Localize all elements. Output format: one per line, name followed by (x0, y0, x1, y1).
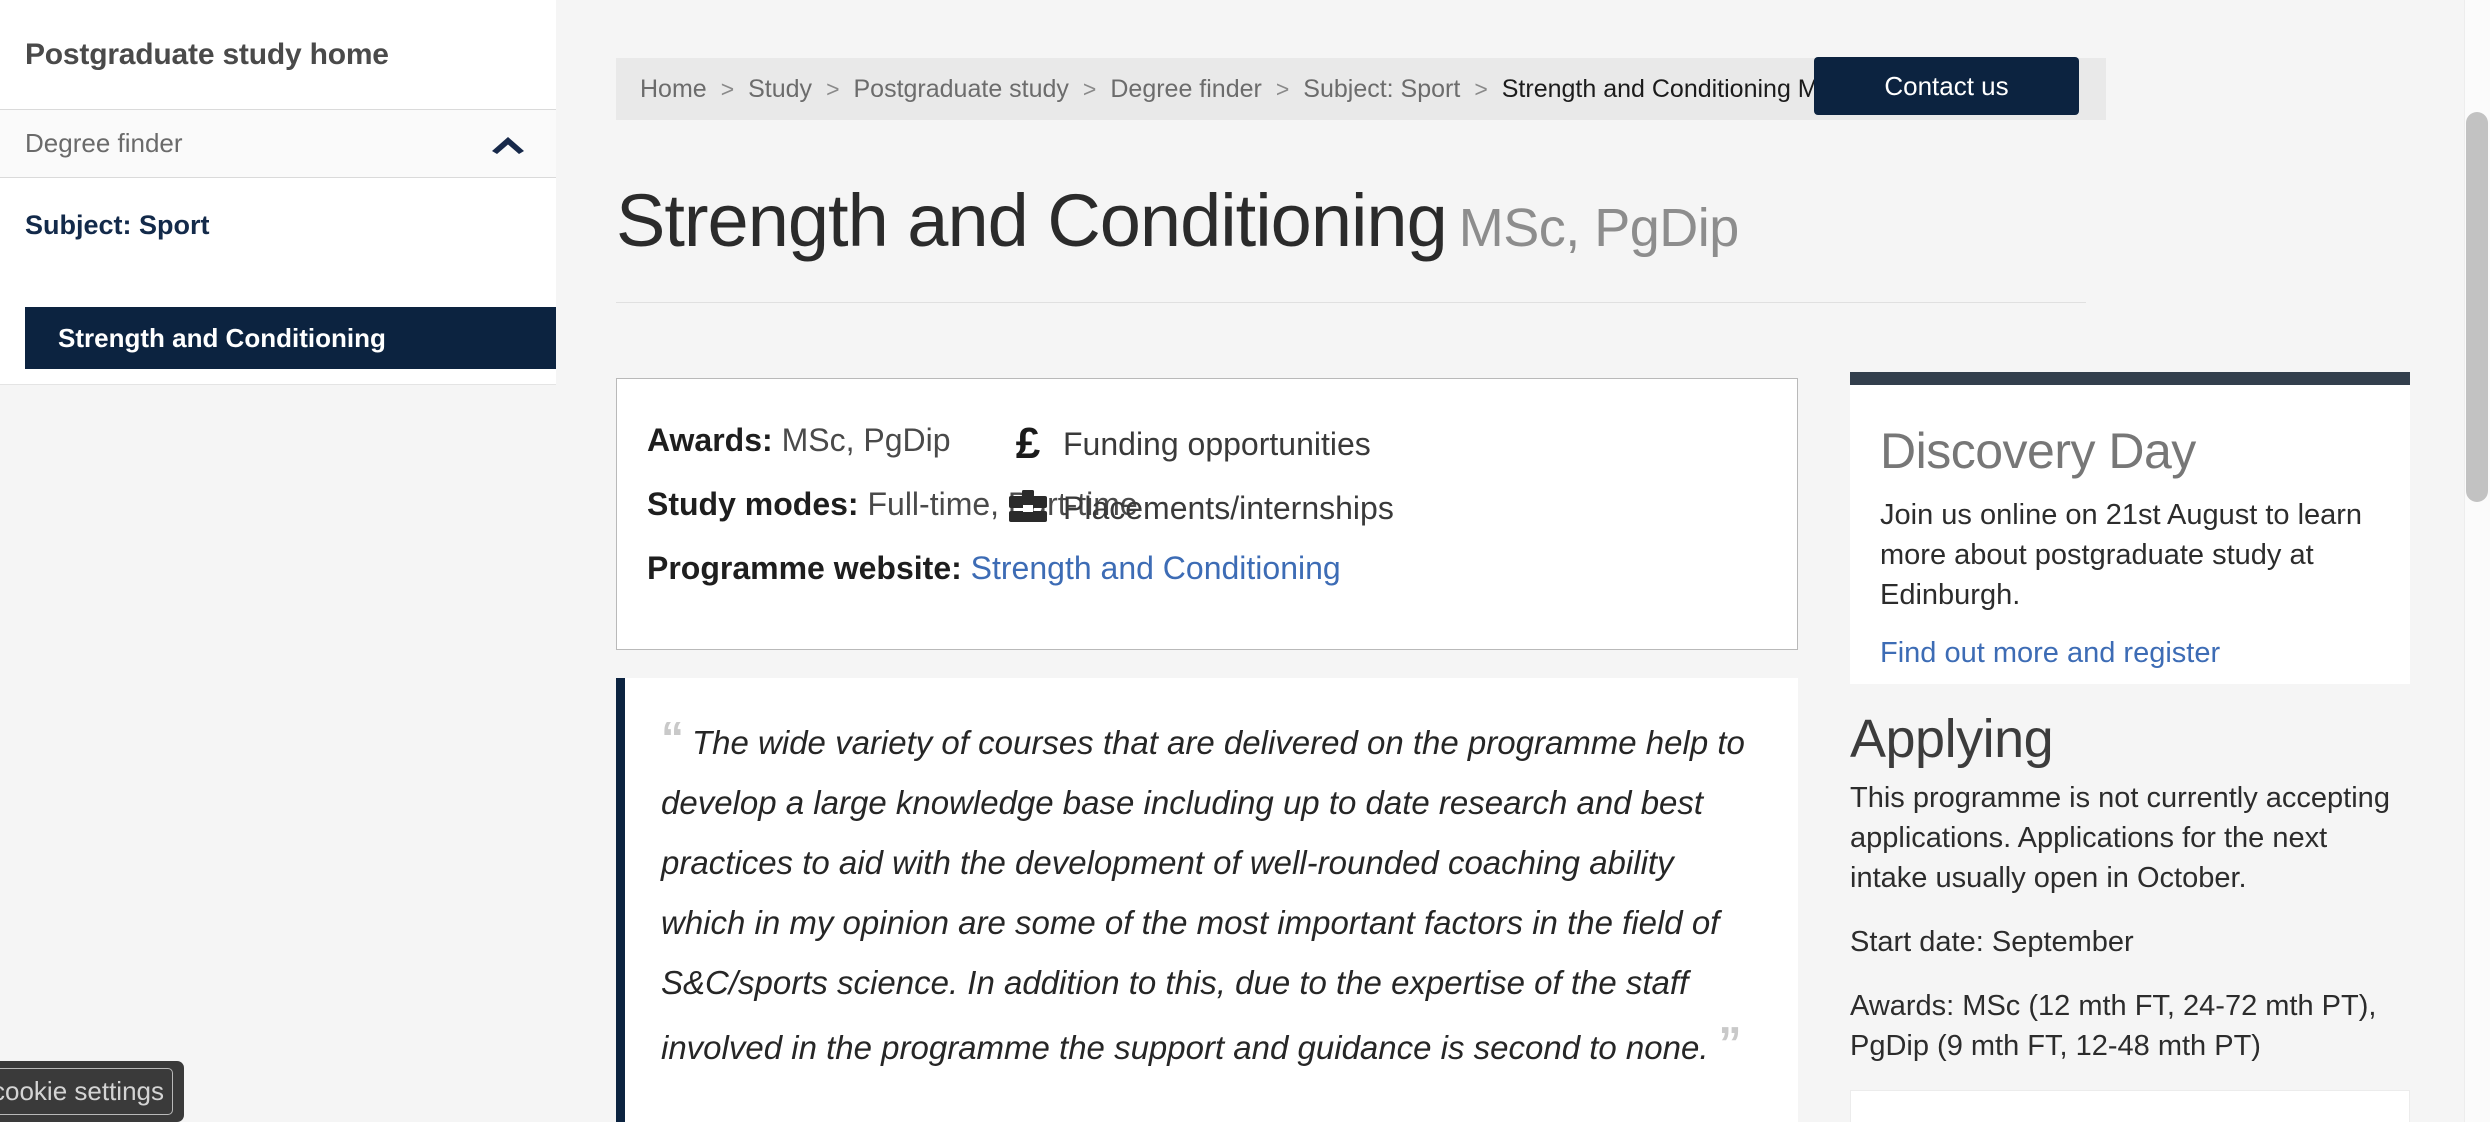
awards-label: Awards: (647, 422, 773, 458)
fact-row-programme-website: Programme website: Strength and Conditio… (647, 545, 1797, 591)
page-title-awards: MSc, PgDip (1459, 198, 1739, 258)
sidebar-degree-finder-label: Degree finder (25, 128, 183, 159)
vertical-scrollbar-thumb[interactable] (2466, 112, 2488, 502)
quote-body: The wide variety of courses that are del… (661, 724, 1745, 1066)
breadcrumb-item-study[interactable]: Study (748, 75, 812, 104)
programme-website-label: Programme website: (647, 550, 962, 586)
discovery-day-card: Discovery Day Join us online on 21st Aug… (1850, 372, 2410, 684)
discovery-day-body: Join us online on 21st August to learn m… (1880, 495, 2380, 615)
applying-bottom-card (1850, 1090, 2410, 1122)
sidebar-active-item-label: Strength and Conditioning (58, 323, 386, 354)
facts-icon-list: £ Funding opportunities (1005, 413, 1394, 541)
breadcrumb-item-postgraduate-study[interactable]: Postgraduate study (854, 75, 1069, 104)
applying-title: Applying (1850, 706, 2410, 772)
sidebar-item-postgraduate-study-home[interactable]: Postgraduate study home (0, 0, 556, 110)
breadcrumb-separator: > (721, 76, 734, 103)
funding-opportunities-item[interactable]: £ Funding opportunities (1005, 413, 1394, 475)
discovery-day-register-link[interactable]: Find out more and register (1880, 637, 2220, 669)
right-sidebar: Discovery Day Join us online on 21st Aug… (1850, 372, 2410, 1122)
cookie-button-label: Change cookie settings (0, 1076, 164, 1107)
change-cookie-settings-button[interactable]: Change cookie settings (0, 1061, 184, 1122)
page-title-main: Strength and Conditioning (616, 179, 1447, 262)
title-divider (616, 302, 2086, 303)
awards-value: MSc, PgDip (782, 422, 951, 458)
student-testimonial-quote: “The wide variety of courses that are de… (616, 678, 1798, 1122)
breadcrumb-item-degree-finder[interactable]: Degree finder (1110, 75, 1261, 104)
breadcrumb-separator: > (826, 76, 839, 103)
quote-close-mark: ” (1719, 1017, 1740, 1069)
briefcase-icon (1005, 489, 1051, 527)
main-content: Home > Study > Postgraduate study > Degr… (556, 0, 2490, 1122)
breadcrumb-separator: > (1276, 76, 1289, 103)
quote-open-mark: “ (661, 712, 682, 764)
applying-start-date: Start date: September (1850, 922, 2410, 962)
quote-text-wrapper: “The wide variety of courses that are de… (625, 678, 1798, 1078)
page-title: Strength and ConditioningMSc, PgDip (616, 178, 1739, 263)
discovery-day-title: Discovery Day (1880, 419, 2380, 483)
programme-facts-box: Awards: MSc, PgDip Study modes: Full-tim… (616, 378, 1798, 650)
contact-us-button[interactable]: Contact us (1814, 57, 2079, 115)
sidebar-item-degree-finder[interactable]: Degree finder (0, 110, 556, 178)
sidebar-home-label: Postgraduate study home (25, 38, 389, 72)
study-modes-label: Study modes: (647, 486, 859, 522)
placements-internships-label: Placements/internships (1063, 490, 1394, 527)
applying-section: Applying This programme is not currently… (1850, 706, 2410, 1122)
breadcrumb-item-home[interactable]: Home (640, 75, 707, 104)
breadcrumb-item-subject-sport[interactable]: Subject: Sport (1303, 75, 1460, 104)
pound-sterling-icon: £ (1005, 422, 1051, 466)
cookie-button-inner: Change cookie settings (0, 1068, 173, 1115)
funding-opportunities-label: Funding opportunities (1063, 426, 1371, 463)
chevron-up-icon[interactable] (488, 132, 528, 156)
vertical-scrollbar-track[interactable] (2464, 0, 2490, 1122)
breadcrumb-separator: > (1474, 76, 1487, 103)
page-root: Postgraduate study home Degree finder Su… (0, 0, 2490, 1122)
sidebar-item-strength-and-conditioning[interactable]: Strength and Conditioning (25, 307, 556, 369)
sidebar-item-subject-sport[interactable]: Subject: Sport (0, 178, 556, 272)
applying-status-text: This programme is not currently acceptin… (1850, 778, 2410, 898)
applying-awards: Awards: MSc (12 mth FT, 24-72 mth PT), P… (1850, 986, 2410, 1066)
sidebar-subject-label: Subject: Sport (25, 210, 210, 241)
placements-internships-item[interactable]: Placements/internships (1005, 477, 1394, 539)
programme-website-link[interactable]: Strength and Conditioning (971, 550, 1341, 586)
breadcrumb-separator: > (1083, 76, 1096, 103)
